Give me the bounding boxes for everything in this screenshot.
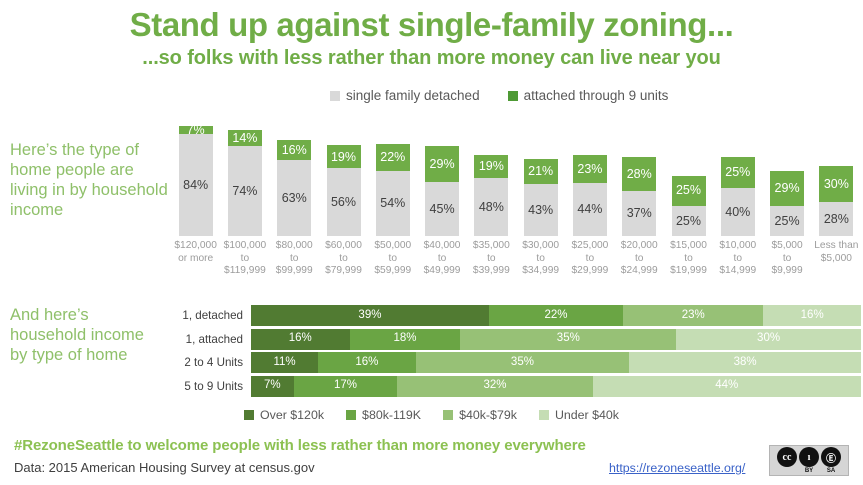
legend-item-label: $40k-$79k <box>459 408 517 422</box>
column-segment-attached: 21% <box>524 159 558 184</box>
square-swatch-icon <box>443 410 453 420</box>
stacked-column: 29%45% <box>425 146 459 236</box>
bar-segment: 32% <box>397 376 592 397</box>
column-segment-attached: 19% <box>327 145 361 168</box>
column-segment-detached: 37% <box>622 191 656 236</box>
segment-value-label: 28% <box>627 168 652 181</box>
footer-website-link[interactable]: https://rezoneseattle.org/ <box>609 461 745 475</box>
segment-value-label: 63% <box>282 192 307 205</box>
column-segment-attached: 19% <box>474 155 508 178</box>
stacked-column: 23%44% <box>573 155 607 236</box>
share-alike-icon: Ⓔ <box>821 447 841 467</box>
legend-item-label: Over $120k <box>260 408 324 422</box>
segment-value-label: 19% <box>331 151 356 164</box>
stacked-column: 14%74% <box>228 130 262 236</box>
square-swatch-icon <box>330 91 340 101</box>
segment-value-label: 21% <box>528 165 553 178</box>
square-swatch-icon <box>244 410 254 420</box>
column-segment-attached: 14% <box>228 130 262 147</box>
bar-segment: 16% <box>251 329 350 350</box>
segment-value-label: 25% <box>725 166 750 179</box>
segment-value-label: 44% <box>577 203 602 216</box>
bar-row-track: 16%18%35%30% <box>251 329 861 350</box>
legend-item: $40k-$79k <box>443 408 517 422</box>
stacked-column: 16%63% <box>277 140 311 236</box>
segment-value-label: 37% <box>627 207 652 220</box>
stacked-column: 25%40% <box>721 157 755 236</box>
column-segment-attached: 7% <box>179 126 213 134</box>
chart-income-by-home-type: 1, detached39%22%23%16%1, attached16%18%… <box>171 305 861 397</box>
column-segment-attached: 16% <box>277 140 311 159</box>
stacked-column: 22%54% <box>376 144 410 236</box>
segment-value-label: 17% <box>334 380 357 392</box>
bar-segment: 30% <box>676 329 861 350</box>
column-segment-attached: 30% <box>819 166 853 202</box>
column-segment-attached: 23% <box>573 155 607 183</box>
segment-value-label: 39% <box>358 310 381 322</box>
segment-value-label: 29% <box>430 158 455 171</box>
legend-item-label: single family detached <box>346 88 480 103</box>
segment-value-label: 74% <box>232 185 257 198</box>
column-segment-attached: 25% <box>721 157 755 187</box>
bar-row: 2 to 4 Units11%16%35%38% <box>171 352 861 373</box>
stacked-column: 25%25% <box>672 176 706 237</box>
column-segment-detached: 44% <box>573 183 607 236</box>
bar-row-label: 1, detached <box>171 309 251 322</box>
segment-value-label: 14% <box>232 132 257 145</box>
column-segment-attached: 29% <box>425 146 459 181</box>
bar-segment: 23% <box>623 305 763 326</box>
segment-value-label: 54% <box>380 197 405 210</box>
segment-value-label: 25% <box>676 215 701 228</box>
segment-value-label: 30% <box>757 333 780 345</box>
segment-value-label: 19% <box>479 160 504 173</box>
square-swatch-icon <box>346 410 356 420</box>
legend-bottom: Over $120k$80k-119K$40k-$79kUnder $40k <box>0 408 863 422</box>
bar-segment: 39% <box>251 305 489 326</box>
stacked-column: 7%84% <box>179 126 213 236</box>
legend-item: attached through 9 units <box>508 88 669 103</box>
bar-segment: 17% <box>294 376 398 397</box>
stacked-column: 30%28% <box>819 166 853 236</box>
bar-segment: 38% <box>629 352 861 373</box>
legend-item-label: attached through 9 units <box>524 88 669 103</box>
column-segment-detached: 25% <box>672 206 706 236</box>
cc-by-label: BY <box>805 468 813 474</box>
segment-value-label: 35% <box>511 357 534 369</box>
column-segment-detached: 84% <box>179 134 213 236</box>
column-segment-attached: 28% <box>622 157 656 191</box>
segment-value-label: 23% <box>682 310 705 322</box>
bar-row-track: 39%22%23%16% <box>251 305 861 326</box>
bar-segment: 18% <box>350 329 461 350</box>
segment-value-label: 44% <box>715 380 738 392</box>
bar-segment: 35% <box>416 352 630 373</box>
legend-item: Over $120k <box>244 408 324 422</box>
bar-segment: 35% <box>460 329 676 350</box>
bar-segment: 16% <box>763 305 861 326</box>
legend-item: Under $40k <box>539 408 619 422</box>
stacked-column: 28%37% <box>622 157 656 236</box>
stacked-column: 19%48% <box>474 155 508 236</box>
segment-value-label: 25% <box>775 215 800 228</box>
chart-x-axis-labels: $120,000or more$100,000to$119,999$80,000… <box>171 240 861 290</box>
segment-value-label: 23% <box>577 163 602 176</box>
page-title: Stand up against single-family zoning... <box>0 6 863 44</box>
creative-commons-badge: cc ı BY Ⓔ SA <box>769 445 849 476</box>
footer-data-source: Data: 2015 American Housing Survey at ce… <box>14 460 315 475</box>
bar-segment: 44% <box>593 376 861 397</box>
stacked-column: 21%43% <box>524 159 558 236</box>
bar-row: 1, detached39%22%23%16% <box>171 305 861 326</box>
bar-row-label: 2 to 4 Units <box>171 356 251 369</box>
segment-value-label: 18% <box>394 333 417 345</box>
segment-value-label: 29% <box>775 182 800 195</box>
column-segment-attached: 29% <box>770 171 804 206</box>
segment-value-label: 38% <box>734 357 757 369</box>
bar-segment: 7% <box>251 376 294 397</box>
column-segment-attached: 25% <box>672 176 706 206</box>
column-segment-detached: 48% <box>474 178 508 236</box>
segment-value-label: 56% <box>331 196 356 209</box>
segment-value-label: 40% <box>725 206 750 219</box>
segment-value-label: 25% <box>676 184 701 197</box>
bar-row-track: 7%17%32%44% <box>251 376 861 397</box>
cc-mark: cc <box>777 447 797 474</box>
bar-segment: 22% <box>489 305 623 326</box>
bar-row-label: 5 to 9 Units <box>171 380 251 393</box>
segment-value-label: 11% <box>273 357 295 369</box>
cc-icon: cc <box>777 447 797 467</box>
column-segment-detached: 74% <box>228 146 262 236</box>
segment-value-label: 16% <box>355 357 378 369</box>
column-segment-attached: 22% <box>376 144 410 171</box>
stacked-column: 29%25% <box>770 171 804 236</box>
column-segment-detached: 45% <box>425 182 459 236</box>
cc-sa: Ⓔ SA <box>821 447 841 474</box>
segment-value-label: 28% <box>824 213 849 226</box>
square-swatch-icon <box>508 91 518 101</box>
column-segment-detached: 63% <box>277 160 311 236</box>
stacked-column: 19%56% <box>327 145 361 236</box>
column-segment-detached: 54% <box>376 171 410 236</box>
column-segment-detached: 43% <box>524 184 558 236</box>
segment-value-label: 35% <box>557 333 580 345</box>
page-subtitle: ...so folks with less rather than more m… <box>0 47 863 70</box>
segment-value-label: 16% <box>282 144 307 157</box>
bar-segment: 16% <box>318 352 416 373</box>
segment-value-label: 84% <box>183 179 208 192</box>
legend-item: $80k-119K <box>346 408 421 422</box>
bar-row-label: 1, attached <box>171 333 251 346</box>
bar-row: 1, attached16%18%35%30% <box>171 329 861 350</box>
infographic-page: Stand up against single-family zoning...… <box>0 0 863 485</box>
column-segment-detached: 28% <box>819 202 853 236</box>
legend-item: single family detached <box>330 88 480 103</box>
person-icon: ı <box>799 447 819 467</box>
bar-segment: 11% <box>251 352 318 373</box>
legend-top: single family detachedattached through 9… <box>330 88 668 103</box>
square-swatch-icon <box>539 410 549 420</box>
segment-value-label: 16% <box>289 333 312 345</box>
segment-value-label: 22% <box>380 151 405 164</box>
chart-home-type-by-income: 7%84%14%74%16%63%19%56%22%54%29%45%19%48… <box>171 110 861 236</box>
segment-value-label: 7% <box>264 380 281 392</box>
segment-value-label: 30% <box>824 178 849 191</box>
footer-hashtag: #RezoneSeattle to welcome people with le… <box>14 437 586 454</box>
segment-value-label: 16% <box>801 310 824 322</box>
column-segment-detached: 56% <box>327 168 361 236</box>
column-segment-detached: 25% <box>770 206 804 236</box>
segment-value-label: 43% <box>528 204 553 217</box>
cc-sa-label: SA <box>827 468 835 474</box>
bar-row: 5 to 9 Units7%17%32%44% <box>171 376 861 397</box>
segment-value-label: 48% <box>479 201 504 214</box>
x-axis-label: Less than$5,000 <box>808 240 863 265</box>
legend-item-label: $80k-119K <box>362 408 421 422</box>
cc-by: ı BY <box>799 447 819 474</box>
segment-value-label: 45% <box>430 203 455 216</box>
caption-home-type-by-income: Here’s the type of home people are livin… <box>10 140 168 221</box>
segment-value-label: 22% <box>544 310 567 322</box>
column-segment-detached: 40% <box>721 188 755 236</box>
legend-item-label: Under $40k <box>555 408 619 422</box>
segment-value-label: 32% <box>483 380 506 392</box>
caption-income-by-home-type: And here’s household income by type of h… <box>10 305 160 365</box>
bar-row-track: 11%16%35%38% <box>251 352 861 373</box>
